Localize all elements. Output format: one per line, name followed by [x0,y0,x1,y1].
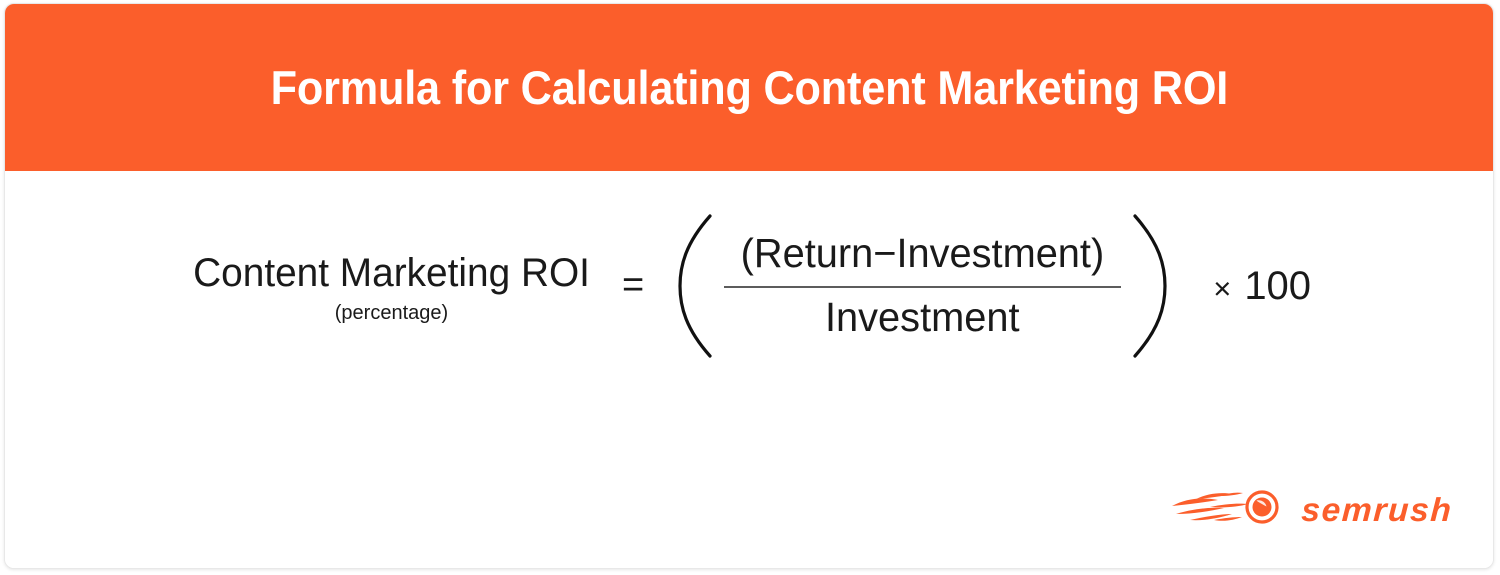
body-area: Content Marketing ROI (percentage) = (Re… [5,171,1493,569]
multiplier-group: ×100 [1213,266,1311,306]
formula-left-side: Content Marketing ROI (percentage) [187,252,596,331]
fraction: (Return−Investment) Investment [718,231,1127,341]
parenthesized-fraction: (Return−Investment) Investment [674,213,1171,359]
semrush-logo: semrush [1170,487,1451,532]
multiplication-sign: × [1213,271,1231,306]
multiplier-value: 100 [1244,264,1311,308]
formula-left-sublabel: (percentage) [187,303,596,323]
semrush-wordmark: semrush [1301,493,1454,526]
fraction-denominator: Investment [825,295,1020,341]
right-parenthesis-icon [1127,213,1171,359]
semrush-flame-comet-icon [1170,487,1292,532]
equals-sign: = [622,266,644,304]
fraction-bar [724,286,1121,288]
fraction-numerator: (Return−Investment) [741,231,1105,277]
header-band: Formula for Calculating Content Marketin… [5,4,1493,171]
infographic-card: Formula for Calculating Content Marketin… [4,3,1494,569]
formula-expression: Content Marketing ROI (percentage) = (Re… [5,171,1493,411]
page-title: Formula for Calculating Content Marketin… [270,64,1227,111]
left-parenthesis-icon [674,213,718,359]
formula-left-label: Content Marketing ROI [193,252,590,294]
